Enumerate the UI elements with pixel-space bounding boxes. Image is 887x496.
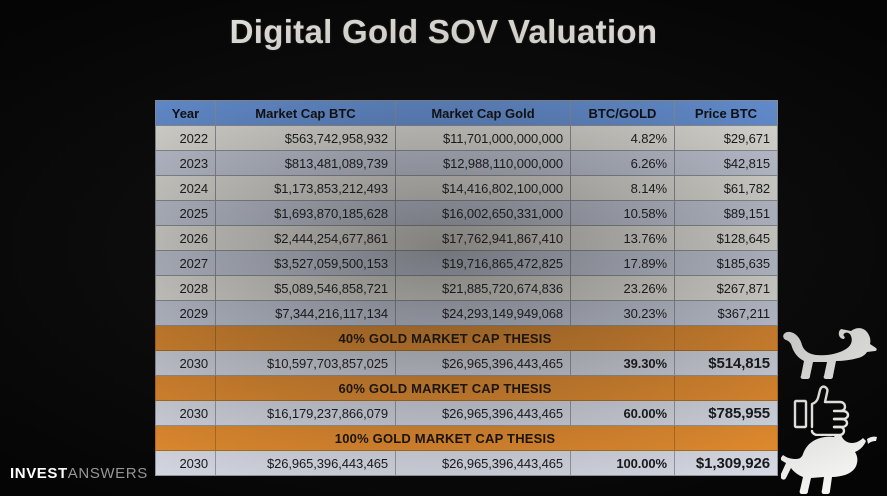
brand-logo-bold: INVEST <box>10 465 68 482</box>
cell-year: 2028 <box>156 276 216 301</box>
bull-icon <box>781 434 881 496</box>
cell-price-btc: $267,871 <box>675 276 778 301</box>
thesis-separator-row: 40% GOLD MARKET CAP THESIS <box>156 326 778 351</box>
cell-btc-gold: 13.76% <box>571 226 675 251</box>
cell-market-cap-btc: $26,965,396,443,465 <box>216 451 396 476</box>
cell-price-btc: $29,671 <box>675 126 778 151</box>
thesis-spacer-left <box>156 426 216 451</box>
table-header: Year Market Cap BTC Market Cap Gold BTC/… <box>156 101 778 126</box>
scenario-row: 2030 $26,965,396,443,465 $26,965,396,443… <box>156 451 778 476</box>
cell-market-cap-btc: $7,344,216,117,134 <box>216 301 396 326</box>
thesis-label: 60% GOLD MARKET CAP THESIS <box>216 376 675 401</box>
table-row: 2023 $813,481,089,739 $12,988,110,000,00… <box>156 151 778 176</box>
cell-year: 2024 <box>156 176 216 201</box>
column-header-btc-gold: BTC/GOLD <box>571 101 675 126</box>
cell-market-cap-gold: $14,416,802,100,000 <box>396 176 571 201</box>
brand-logo: INVESTANSWERS <box>10 465 148 482</box>
market-sentiment-icon-stack <box>781 322 881 496</box>
thesis-spacer-left <box>156 326 216 351</box>
cell-price-btc: $128,645 <box>675 226 778 251</box>
cell-market-cap-btc: $1,173,853,212,493 <box>216 176 396 201</box>
column-header-price-btc: Price BTC <box>675 101 778 126</box>
cell-market-cap-gold: $11,701,000,000,000 <box>396 126 571 151</box>
cell-price-btc: $367,211 <box>675 301 778 326</box>
table-row: 2025 $1,693,870,185,628 $16,002,650,331,… <box>156 201 778 226</box>
table-row: 2028 $5,089,546,858,721 $21,885,720,674,… <box>156 276 778 301</box>
thesis-separator-row: 100% GOLD MARKET CAP THESIS <box>156 426 778 451</box>
cell-year: 2025 <box>156 201 216 226</box>
thumbs-up-icon <box>781 384 881 436</box>
cell-year: 2030 <box>156 351 216 376</box>
table-body: 2022 $563,742,958,932 $11,701,000,000,00… <box>156 126 778 476</box>
thesis-separator-row: 60% GOLD MARKET CAP THESIS <box>156 376 778 401</box>
cell-btc-gold: 6.26% <box>571 151 675 176</box>
scenario-row: 2030 $16,179,237,866,079 $26,965,396,443… <box>156 401 778 426</box>
thesis-label: 40% GOLD MARKET CAP THESIS <box>216 326 675 351</box>
cell-btc-gold: 39.30% <box>571 351 675 376</box>
cell-price-btc: $1,309,926 <box>675 451 778 476</box>
cell-year: 2023 <box>156 151 216 176</box>
bear-icon <box>781 322 881 384</box>
cell-price-btc: $42,815 <box>675 151 778 176</box>
cell-market-cap-gold: $17,762,941,867,410 <box>396 226 571 251</box>
cell-btc-gold: 4.82% <box>571 126 675 151</box>
brand-logo-light: ANSWERS <box>68 465 148 482</box>
thesis-spacer-right <box>675 376 778 401</box>
cell-market-cap-gold: $19,716,865,472,825 <box>396 251 571 276</box>
cell-btc-gold: 100.00% <box>571 451 675 476</box>
thesis-spacer-left <box>156 376 216 401</box>
cell-market-cap-gold: $26,965,396,443,465 <box>396 351 571 376</box>
column-header-year: Year <box>156 101 216 126</box>
valuation-table: Year Market Cap BTC Market Cap Gold BTC/… <box>155 100 778 476</box>
thesis-label: 100% GOLD MARKET CAP THESIS <box>216 426 675 451</box>
cell-year: 2030 <box>156 401 216 426</box>
cell-market-cap-gold: $12,988,110,000,000 <box>396 151 571 176</box>
cell-year: 2027 <box>156 251 216 276</box>
cell-market-cap-gold: $26,965,396,443,465 <box>396 451 571 476</box>
cell-market-cap-gold: $16,002,650,331,000 <box>396 201 571 226</box>
cell-btc-gold: 10.58% <box>571 201 675 226</box>
cell-market-cap-btc: $16,179,237,866,079 <box>216 401 396 426</box>
table-header-row: Year Market Cap BTC Market Cap Gold BTC/… <box>156 101 778 126</box>
cell-price-btc: $61,782 <box>675 176 778 201</box>
cell-price-btc: $785,955 <box>675 401 778 426</box>
column-header-market-cap-gold: Market Cap Gold <box>396 101 571 126</box>
cell-price-btc: $514,815 <box>675 351 778 376</box>
cell-market-cap-btc: $813,481,089,739 <box>216 151 396 176</box>
table-row: 2027 $3,527,059,500,153 $19,716,865,472,… <box>156 251 778 276</box>
cell-market-cap-gold: $21,885,720,674,836 <box>396 276 571 301</box>
cell-price-btc: $89,151 <box>675 201 778 226</box>
cell-market-cap-btc: $2,444,254,677,861 <box>216 226 396 251</box>
cell-btc-gold: 8.14% <box>571 176 675 201</box>
cell-year: 2022 <box>156 126 216 151</box>
cell-price-btc: $185,635 <box>675 251 778 276</box>
scenario-row: 2030 $10,597,703,857,025 $26,965,396,443… <box>156 351 778 376</box>
cell-btc-gold: 23.26% <box>571 276 675 301</box>
cell-market-cap-btc: $563,742,958,932 <box>216 126 396 151</box>
table-row: 2024 $1,173,853,212,493 $14,416,802,100,… <box>156 176 778 201</box>
page-title: Digital Gold SOV Valuation <box>0 11 887 53</box>
cell-market-cap-btc: $10,597,703,857,025 <box>216 351 396 376</box>
cell-year: 2026 <box>156 226 216 251</box>
table-row: 2022 $563,742,958,932 $11,701,000,000,00… <box>156 126 778 151</box>
cell-market-cap-btc: $3,527,059,500,153 <box>216 251 396 276</box>
cell-btc-gold: 30.23% <box>571 301 675 326</box>
cell-year: 2030 <box>156 451 216 476</box>
cell-year: 2029 <box>156 301 216 326</box>
cell-btc-gold: 17.89% <box>571 251 675 276</box>
slide-canvas: Digital Gold SOV Valuation Year Market C… <box>0 0 887 496</box>
cell-market-cap-btc: $1,693,870,185,628 <box>216 201 396 226</box>
valuation-table-container: Year Market Cap BTC Market Cap Gold BTC/… <box>155 100 777 476</box>
thesis-spacer-right <box>675 326 778 351</box>
thesis-spacer-right <box>675 426 778 451</box>
table-row: 2026 $2,444,254,677,861 $17,762,941,867,… <box>156 226 778 251</box>
cell-market-cap-gold: $24,293,149,949,068 <box>396 301 571 326</box>
cell-market-cap-btc: $5,089,546,858,721 <box>216 276 396 301</box>
column-header-market-cap-btc: Market Cap BTC <box>216 101 396 126</box>
cell-btc-gold: 60.00% <box>571 401 675 426</box>
table-row: 2029 $7,344,216,117,134 $24,293,149,949,… <box>156 301 778 326</box>
cell-market-cap-gold: $26,965,396,443,465 <box>396 401 571 426</box>
